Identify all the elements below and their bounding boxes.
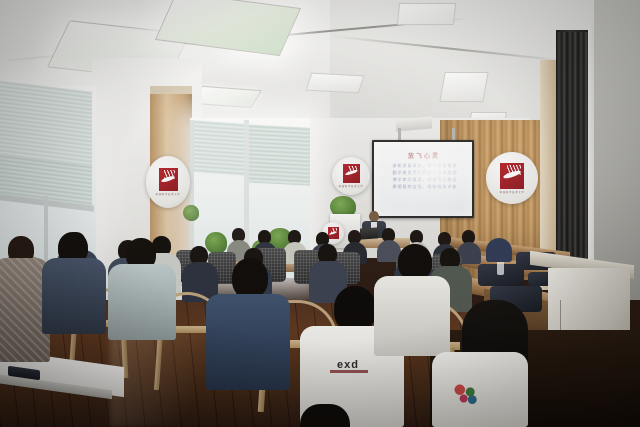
attendee-body xyxy=(108,264,176,340)
attendee-body xyxy=(486,238,512,262)
university-emblem-icon xyxy=(328,227,339,239)
lecture-room-photo: 放飞心灵 求知求真求实，做人做事做学问 勤学善思笃行，励志修身报国 博学审问慎思… xyxy=(0,0,640,427)
attendee-body xyxy=(42,258,106,334)
middle-window-blind-right[interactable] xyxy=(248,124,310,185)
emblem-caption: 中国科学技术大学 xyxy=(156,192,181,196)
wall-emblem-left: 中国科学技术大学 xyxy=(146,156,190,208)
attendee-body xyxy=(374,276,450,356)
middle-window-blind[interactable] xyxy=(193,120,245,176)
wall-emblem-right: 中国科学技术大学 xyxy=(486,152,538,204)
ceiling-panel-right-icon xyxy=(306,73,365,94)
attendee-head xyxy=(398,244,432,280)
attendee-body xyxy=(432,352,528,427)
wall-emblem-center: 中国科学技术大学 xyxy=(332,157,370,195)
university-emblem-icon xyxy=(500,163,524,189)
plant-icon xyxy=(183,205,199,221)
university-emblem-icon xyxy=(159,168,178,191)
emblem-caption: 中国科学技术大学 xyxy=(500,190,525,194)
wood-column-top xyxy=(150,86,192,94)
laptop-icon xyxy=(360,227,378,239)
shirt-logo-underline xyxy=(330,370,368,373)
attendee-head xyxy=(300,404,350,427)
plant-icon xyxy=(205,232,227,254)
emblem-caption: 中国科学技术大学 xyxy=(339,184,364,188)
university-emblem-icon xyxy=(343,164,360,183)
ceiling-vent-icon xyxy=(397,3,456,25)
far-right-wall xyxy=(594,0,640,300)
folding-partition-stack xyxy=(556,32,590,280)
screen-glare xyxy=(374,142,472,216)
floral-embroidery-icon xyxy=(452,382,478,404)
attendee-body xyxy=(206,294,290,390)
attendee-head xyxy=(232,258,268,298)
ceiling-panel-far-icon xyxy=(439,72,488,102)
